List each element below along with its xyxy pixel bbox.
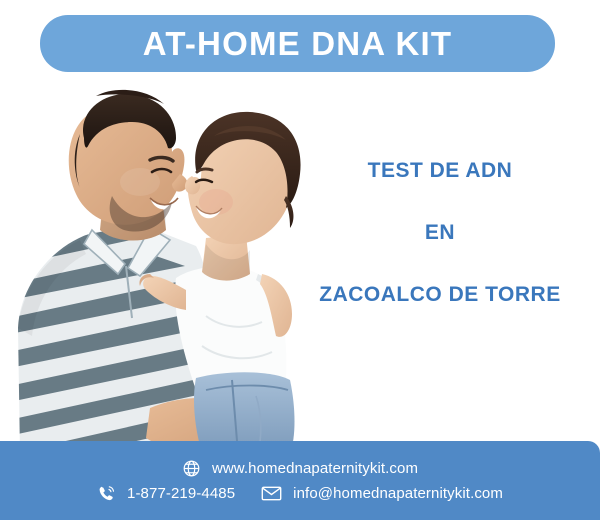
headline-block: TEST DE ADN EN ZACOALCO DE TORRE	[290, 160, 590, 305]
globe-icon	[182, 459, 201, 478]
family-photo	[0, 78, 320, 453]
phone-label: 1-877-219-4485	[127, 486, 235, 501]
promo-card: AT-HOME DNA KIT	[0, 0, 600, 520]
email-label: info@homednapaternitykit.com	[293, 486, 503, 501]
page-title: AT-HOME DNA KIT	[143, 27, 452, 60]
phone-icon	[97, 484, 116, 503]
footer-row-phone-email: 1-877-219-4485 info@homednapaternitykit.…	[97, 484, 503, 503]
phone-contact-item[interactable]: 1-877-219-4485	[97, 484, 235, 503]
footer-contact-bar: www.homednapaternitykit.com 1-877-219-44…	[0, 441, 600, 520]
email-contact-item[interactable]: info@homednapaternitykit.com	[261, 484, 503, 503]
headline-line-preposition: EN	[290, 222, 590, 243]
header-banner: AT-HOME DNA KIT	[40, 15, 555, 72]
website-contact-item[interactable]: www.homednapaternitykit.com	[182, 459, 418, 478]
headline-line-service: TEST DE ADN	[290, 160, 590, 181]
website-label: www.homednapaternitykit.com	[212, 461, 418, 476]
envelope-icon	[261, 484, 282, 503]
family-photo-illustration	[0, 78, 320, 453]
footer-row-website: www.homednapaternitykit.com	[182, 459, 418, 478]
headline-line-location: ZACOALCO DE TORRE	[290, 284, 590, 305]
